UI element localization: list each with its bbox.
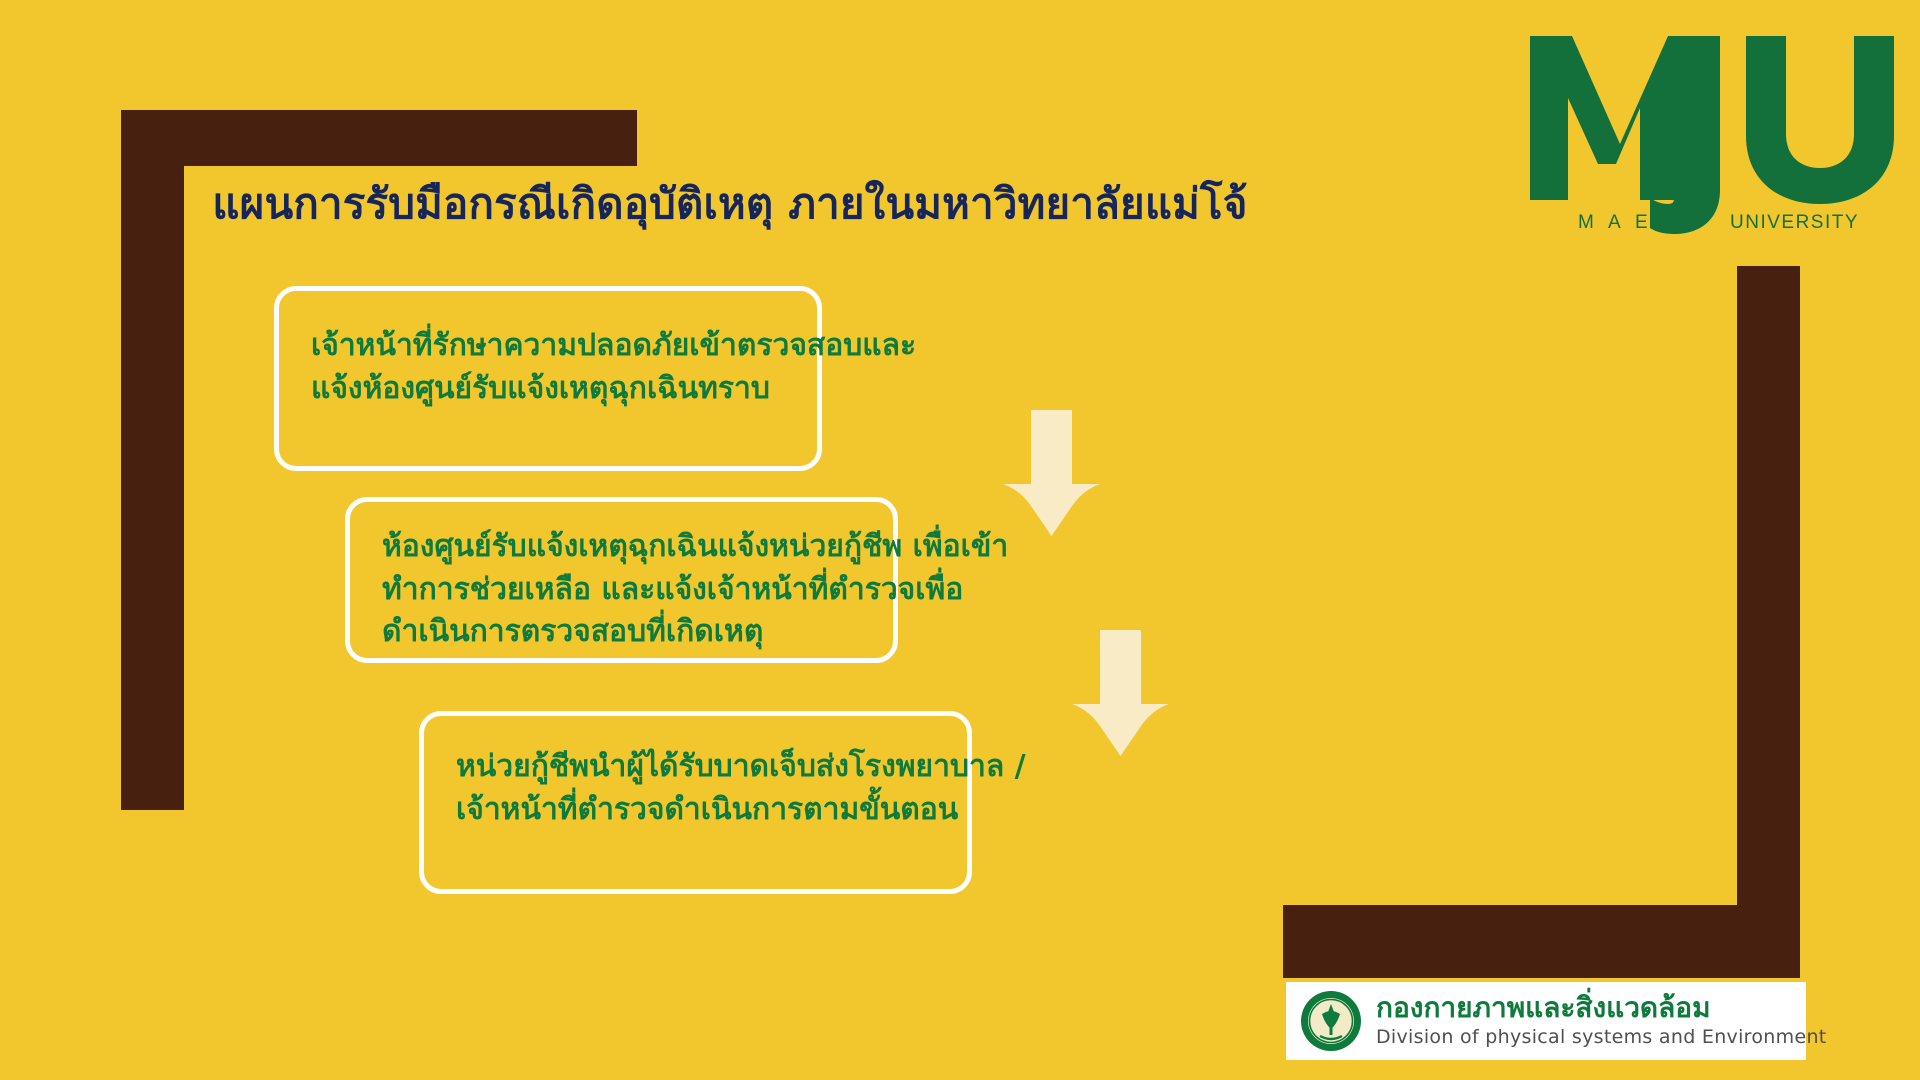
flow-step-1: เจ้าหน้าที่รักษาความปลอดภัยเข้าตรวจสอบแล…	[274, 286, 822, 471]
page-title: แผนการรับมือกรณีเกิดอุบัติเหตุ ภายในมหาว…	[0, 180, 1460, 227]
logo-text-university: UNIVERSITY	[1730, 212, 1859, 233]
logo-text-maejo: M A E J O	[1578, 212, 1707, 233]
arrow-down-icon-1	[1003, 410, 1100, 550]
flow-step-3-line-2: เจ้าหน้าที่ตำรวจดำเนินการตามขั้นตอน	[456, 789, 937, 832]
footer-organization-th: กองกายภาพและสิ่งแวดล้อม	[1376, 992, 1827, 1024]
footer-organization-en: Division of physical systems and Environ…	[1376, 1026, 1827, 1050]
slide-canvas: M A E J O UNIVERSITY แผนการรับมือกรณีเกิ…	[0, 0, 1920, 1080]
frame-bracket-top-left-horizontal	[121, 110, 637, 166]
arrow-down-icon-2	[1072, 630, 1169, 770]
maejo-seal-icon	[1300, 990, 1362, 1052]
flow-step-2-line-2: ทำการช่วยเหลือ และแจ้งเจ้าหน้าที่ตำรวจเพ…	[382, 569, 863, 612]
flow-step-1-line-2: แจ้งห้องศูนย์รับแจ้งเหตุฉุกเฉินทราบ	[311, 368, 787, 411]
footer-badge: กองกายภาพและสิ่งแวดล้อม Division of phys…	[1286, 982, 1806, 1060]
flow-step-2-line-3: ดำเนินการตรวจสอบที่เกิดเหตุ	[382, 611, 863, 654]
mju-logo: M A E J O UNIVERSITY	[1524, 22, 1900, 240]
flow-step-2: ห้องศูนย์รับแจ้งเหตุฉุกเฉินแจ้งหน่วยกู้ช…	[345, 497, 898, 663]
flow-step-3: หน่วยกู้ชีพนำผู้ได้รับบาดเจ็บส่งโรงพยาบา…	[419, 711, 972, 894]
frame-bracket-bottom-right-horizontal	[1283, 905, 1800, 978]
flow-step-1-line-1: เจ้าหน้าที่รักษาความปลอดภัยเข้าตรวจสอบแล…	[311, 325, 787, 368]
flow-step-2-line-1: ห้องศูนย์รับแจ้งเหตุฉุกเฉินแจ้งหน่วยกู้ช…	[382, 526, 863, 569]
footer-text-block: กองกายภาพและสิ่งแวดล้อม Division of phys…	[1376, 992, 1827, 1050]
flow-step-3-line-1: หน่วยกู้ชีพนำผู้ได้รับบาดเจ็บส่งโรงพยาบา…	[456, 746, 937, 789]
frame-bracket-bottom-right-vertical	[1737, 266, 1800, 978]
